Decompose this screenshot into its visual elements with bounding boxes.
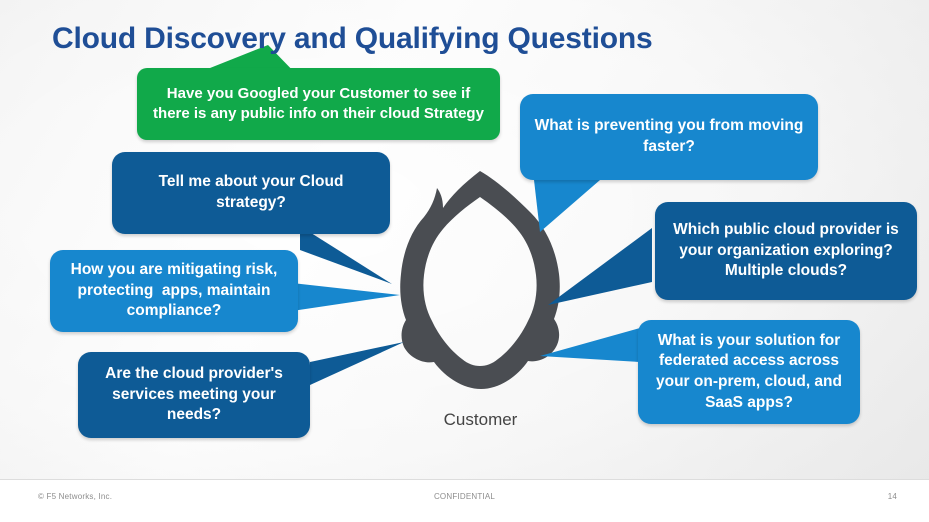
slide-canvas: Cloud Discovery and Qualifying Questions…	[0, 0, 929, 522]
callout-preventing-moving-faster[interactable]: What is preventing you from moving faste…	[520, 94, 818, 180]
customer-label: Customer	[393, 410, 568, 430]
footer-page-number: 14	[888, 492, 897, 501]
footer-classification: CONFIDENTIAL	[0, 492, 929, 501]
callout-cloud-strategy[interactable]: Tell me about your Cloud strategy?	[112, 152, 390, 234]
customer-head-icon	[393, 168, 568, 398]
callout-googled-customer[interactable]: Have you Googled your Customer to see if…	[137, 68, 500, 140]
callout-public-cloud-provider[interactable]: Which public cloud provider is your orga…	[655, 202, 917, 300]
tail-services-meeting-needs	[310, 342, 404, 385]
callout-mitigating-risk[interactable]: How you are mitigating risk, protecting …	[50, 250, 298, 332]
tail-mitigating-risk	[292, 283, 400, 311]
page-title: Cloud Discovery and Qualifying Questions	[52, 22, 652, 56]
callout-federated-access[interactable]: What is your solution for federated acce…	[638, 320, 860, 424]
callout-services-meeting-needs[interactable]: Are the cloud provider's services meetin…	[78, 352, 310, 438]
tail-cloud-strategy	[300, 226, 392, 284]
slide-footer: © F5 Networks, Inc. CONFIDENTIAL 14	[0, 479, 929, 522]
